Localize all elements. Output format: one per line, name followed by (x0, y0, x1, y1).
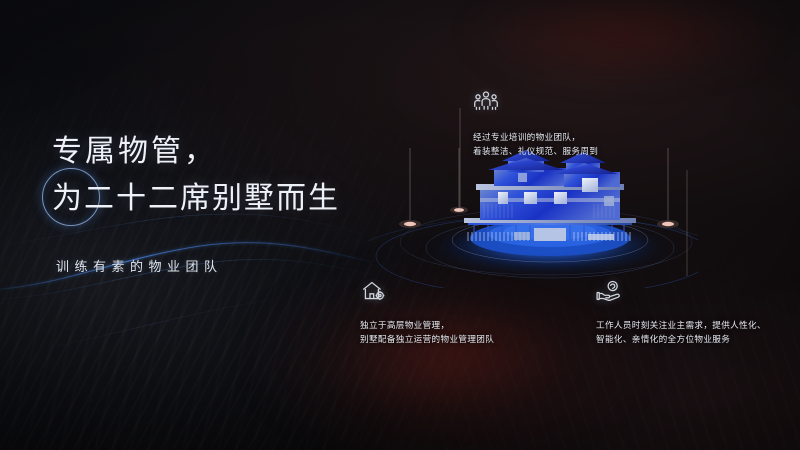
callout-service-text: 工作人员时刻关注业主需求，提供人性化、 智能化、亲情化的全方位物业服务 (596, 318, 766, 346)
callout-service-line-2: 智能化、亲情化的全方位物业服务 (596, 332, 766, 346)
connector-line-service (672, 170, 702, 280)
house-gear-icon (360, 278, 386, 304)
villa-illustration (368, 148, 698, 288)
subtitle: 训练有素的物业团队 (56, 256, 223, 275)
callout-team-line-1: 经过专业培训的物业团队， (473, 130, 598, 144)
callout-independent: 独立于高层物业管理， 别墅配备独立运营的物业管理团队 (360, 278, 494, 346)
headline-block: 专属物管， 为二十二席别墅而生 (52, 128, 340, 222)
callout-independent-text: 独立于高层物业管理， 别墅配备独立运营的物业管理团队 (360, 318, 494, 346)
callout-team: 经过专业培训的物业团队， 着装整洁、礼仪规范、服务周到 (473, 88, 598, 158)
slide-canvas: 专属物管， 为二十二席别墅而生 训练有素的物业团队 经过专业培训的物业团队， 着… (0, 0, 800, 450)
page-title: 专属物管， 为二十二席别墅而生 (52, 128, 340, 222)
headline-line-1: 专属物管， (52, 128, 340, 175)
callout-team-text: 经过专业培训的物业团队， 着装整洁、礼仪规范、服务周到 (473, 130, 598, 158)
headline-line-2: 为二十二席别墅而生 (52, 175, 340, 222)
callout-independent-line-1: 独立于高层物业管理， (360, 318, 494, 332)
people-group-icon (473, 88, 499, 114)
hand-care-icon (596, 278, 622, 304)
callout-independent-line-2: 别墅配备独立运营的物业管理团队 (360, 332, 494, 346)
callout-team-line-2: 着装整洁、礼仪规范、服务周到 (473, 144, 598, 158)
callout-service-line-1: 工作人员时刻关注业主需求，提供人性化、 (596, 318, 766, 332)
callout-service: 工作人员时刻关注业主需求，提供人性化、 智能化、亲情化的全方位物业服务 (596, 278, 766, 346)
